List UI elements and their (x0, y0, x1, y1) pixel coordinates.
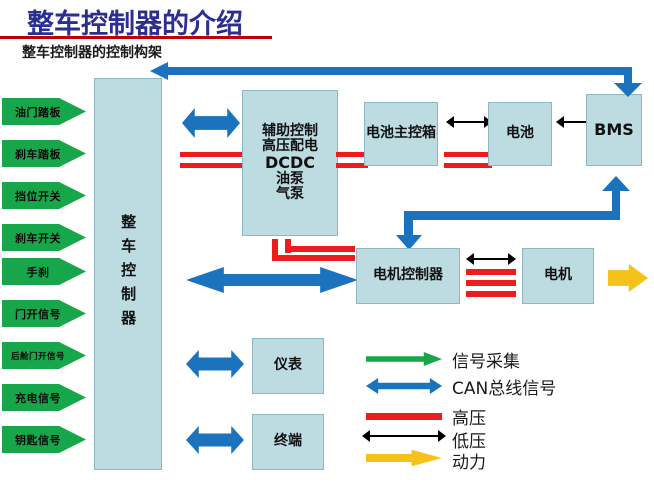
can-arrow-vcu-motor-controller (186, 267, 358, 293)
can-bus-mid-horizontal (404, 211, 620, 220)
input-label: 充电信号 (15, 390, 61, 406)
input-label: 后舱门开信号 (11, 350, 65, 362)
aux-line-1: 辅助控制 (262, 124, 318, 139)
input-label: 手刹 (27, 264, 50, 280)
block-motor[interactable]: 电机 (522, 248, 594, 304)
input-arrow-throttle-pedal[interactable]: 油门踏板 (2, 98, 86, 125)
legend-icon-power (366, 449, 442, 467)
page-subtitle: 整车控制器的控制构架 (22, 42, 162, 62)
block-label: BMS (594, 121, 634, 138)
block-bms[interactable]: BMS (586, 94, 642, 166)
input-label: 刹车踏板 (15, 146, 61, 162)
can-bus-top-horizontal (164, 67, 632, 75)
legend-icon-can-bus (366, 378, 442, 394)
hv-line-motor-phase-1 (466, 269, 516, 275)
lv-arrow-motorctrl-motor (466, 253, 516, 265)
block-terminal[interactable]: 终端 (252, 414, 324, 470)
arrow-shaft (452, 121, 486, 123)
input-arrow-handbrake[interactable]: 手刹 (2, 258, 86, 285)
block-label: 电池 (506, 126, 534, 141)
block-instrument-cluster[interactable]: 仪表 (252, 338, 324, 394)
legend-icon-high-voltage (366, 413, 442, 420)
hv-line-motor-phase-3 (466, 291, 516, 297)
block-aux-control-dcdc[interactable]: 辅助控制 高压配电 DCDC 油泵 气泵 (242, 90, 338, 236)
hv-line-vcu-aux-1 (180, 152, 242, 157)
legend-icon-low-voltage (362, 430, 446, 444)
legend-label-high-voltage: 高压 (452, 404, 486, 429)
block-motor-controller[interactable]: 电机控制器 (356, 248, 460, 304)
legend-icon-signal-acquisition (366, 352, 442, 366)
block-label: 电机 (544, 268, 572, 283)
hv-line-batterybox-battery-2 (444, 163, 492, 168)
block-label: 整车控制器 (120, 214, 136, 334)
input-arrow-brake-switch[interactable]: 刹车开关 (2, 224, 86, 251)
arrow-shaft (368, 435, 440, 437)
can-arrow-vcu-terminal (186, 426, 244, 454)
input-arrow-charging-signal[interactable]: 充电信号 (2, 384, 86, 411)
can-arrow-vcu-instrument (186, 350, 244, 378)
aux-line-3: DCDC (265, 154, 315, 171)
diagram-canvas: 整车控制器的介绍 整车控制器的控制构架 油门踏板 刹车踏板 挡位开关 刹车开关 … (0, 0, 654, 484)
block-vehicle-control-unit[interactable]: 整车控制器 (94, 78, 162, 470)
can-arrow-vcu-aux (182, 108, 240, 138)
block-label: 仪表 (274, 358, 302, 373)
aux-line-5: 气泵 (276, 187, 304, 202)
input-arrow-rear-hatch-signal[interactable]: 后舱门开信号 (2, 342, 86, 369)
input-label: 钥匙信号 (15, 432, 61, 448)
hv-line-vcu-aux-2 (180, 163, 242, 168)
input-label: 刹车开关 (15, 230, 61, 246)
title-underline (0, 36, 272, 39)
block-label: 电机控制器 (373, 268, 443, 283)
input-label: 油门踏板 (15, 104, 61, 120)
input-label: 挡位开关 (15, 188, 61, 204)
input-arrow-brake-pedal[interactable]: 刹车踏板 (2, 140, 86, 167)
input-arrow-door-open-signal[interactable]: 门开信号 (2, 300, 86, 327)
input-arrow-gear-switch[interactable]: 挡位开关 (2, 182, 86, 209)
hv-line-aux-motor-horizontal-2 (272, 255, 355, 261)
input-label: 门开信号 (15, 306, 61, 322)
can-bus-motorctrl-vertical (404, 211, 413, 239)
block-battery-main-control-box[interactable]: 电池主控箱 (364, 102, 438, 166)
legend-label-power: 动力 (452, 448, 486, 473)
block-label: 电池主控箱 (366, 126, 436, 141)
can-bus-arrowhead-up-to-bms (602, 176, 630, 191)
legend-label-signal-acquisition: 信号采集 (452, 347, 520, 372)
block-battery[interactable]: 电池 (488, 102, 552, 166)
hv-line-motor-phase-2 (466, 280, 516, 286)
block-label: 终端 (274, 434, 302, 449)
hv-line-batterybox-battery-1 (444, 152, 492, 157)
power-output-arrow (608, 264, 648, 292)
lv-arrow-batterybox-battery (446, 116, 492, 128)
legend-label-can-bus: CAN总线信号 (452, 374, 556, 399)
arrow-head-right (438, 430, 446, 442)
aux-line-4: 油泵 (276, 172, 304, 187)
arrow-head-right (508, 253, 516, 265)
hv-line-aux-motor-horizontal-1 (285, 246, 355, 252)
input-arrow-key-signal[interactable]: 钥匙信号 (2, 426, 86, 453)
arrow-shaft (472, 258, 510, 260)
aux-line-2: 高压配电 (262, 139, 318, 154)
